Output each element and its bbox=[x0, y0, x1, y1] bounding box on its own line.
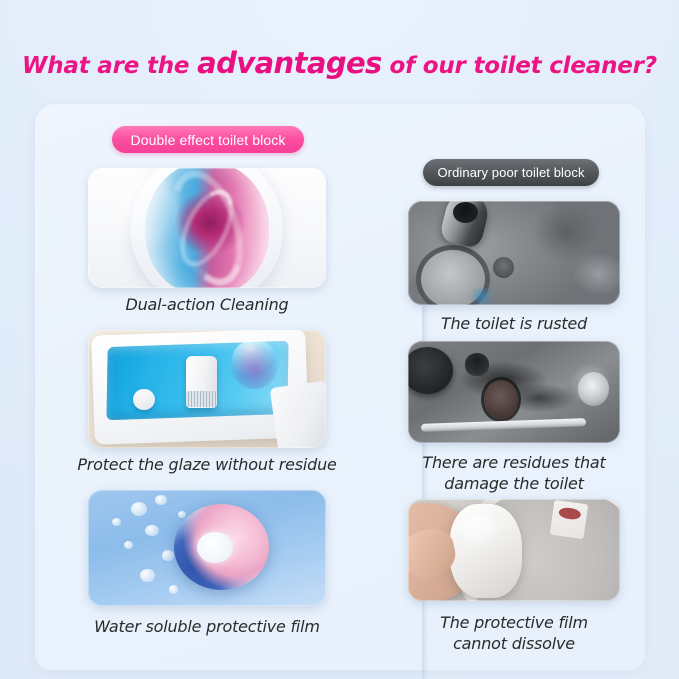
caption-residues-damage-toilet: There are residues thatdamage the toilet bbox=[398, 452, 630, 494]
photo-toilet-is-rusted bbox=[408, 201, 620, 305]
bubble-icon bbox=[145, 525, 159, 537]
cistern-tank-image bbox=[88, 330, 326, 448]
badge-double-effect-toilet-block: Double effect toilet block bbox=[112, 126, 304, 153]
caption-line-1: There are residues that bbox=[422, 453, 605, 472]
tank-knob-shape bbox=[133, 389, 154, 410]
page-title-emphasis: advantages bbox=[197, 46, 382, 80]
advantages-poster: What are the advantages of our toilet cl… bbox=[0, 0, 679, 679]
ball-core-highlight bbox=[197, 532, 233, 563]
photo-dual-action-cleaning bbox=[88, 168, 326, 288]
bubble-icon bbox=[162, 550, 174, 560]
caption-water-soluble-film: Water soluble protective film bbox=[46, 617, 368, 637]
bubble-icon bbox=[155, 495, 167, 505]
tank-lid-shape bbox=[269, 381, 326, 448]
caption-film-cannot-dissolve: The protective filmcannot dissolve bbox=[398, 612, 630, 654]
caption-toilet-is-rusted: The toilet is rusted bbox=[398, 314, 630, 334]
black-residue-image bbox=[408, 341, 620, 443]
caption-line-2: cannot dissolve bbox=[453, 634, 575, 653]
bubble-icon bbox=[131, 502, 148, 516]
page-title-part1: What are the bbox=[22, 53, 197, 79]
badge-ordinary-poor-toilet-block: Ordinary poor toilet block bbox=[423, 159, 599, 186]
bubble-icon bbox=[169, 585, 179, 594]
bubble-icon bbox=[178, 511, 185, 518]
rusted-tank-image bbox=[408, 201, 620, 305]
bubble-icon bbox=[112, 518, 122, 526]
dissolving-sparkle-shape bbox=[231, 339, 279, 389]
caption-dual-action-cleaning: Dual-action Cleaning bbox=[46, 295, 368, 315]
dispenser-ribbed-ring bbox=[186, 391, 217, 406]
overflow-tube-shape bbox=[465, 353, 488, 375]
toilet-bowl-swirl-image bbox=[88, 168, 326, 288]
drain-hole-shape bbox=[493, 257, 514, 278]
bubble-icon bbox=[124, 541, 134, 549]
flapper-disk-shape bbox=[484, 380, 518, 419]
caption-protect-the-glaze: Protect the glaze without residue bbox=[46, 455, 368, 475]
blue-residue-stain bbox=[467, 288, 497, 305]
film-sheen-highlight bbox=[463, 515, 497, 546]
photo-residues-damage-toilet bbox=[408, 341, 620, 443]
page-title: What are the advantages of our toilet cl… bbox=[0, 46, 679, 80]
photo-film-cannot-dissolve bbox=[408, 499, 620, 601]
caption-line-2: damage the toilet bbox=[444, 474, 583, 493]
photo-protect-the-glaze bbox=[88, 330, 326, 448]
pipe-opening-shape bbox=[453, 202, 478, 223]
porcelain-gloss-highlight bbox=[117, 173, 179, 245]
photo-water-soluble-film bbox=[88, 490, 326, 606]
caption-line-1: The protective film bbox=[440, 613, 588, 632]
undissolved-film-image bbox=[408, 499, 620, 601]
product-label-shape bbox=[550, 500, 588, 539]
bubble-icon bbox=[140, 569, 154, 582]
dissolving-block-image bbox=[88, 490, 326, 606]
page-title-part2: of our toilet cleaner? bbox=[382, 53, 657, 79]
